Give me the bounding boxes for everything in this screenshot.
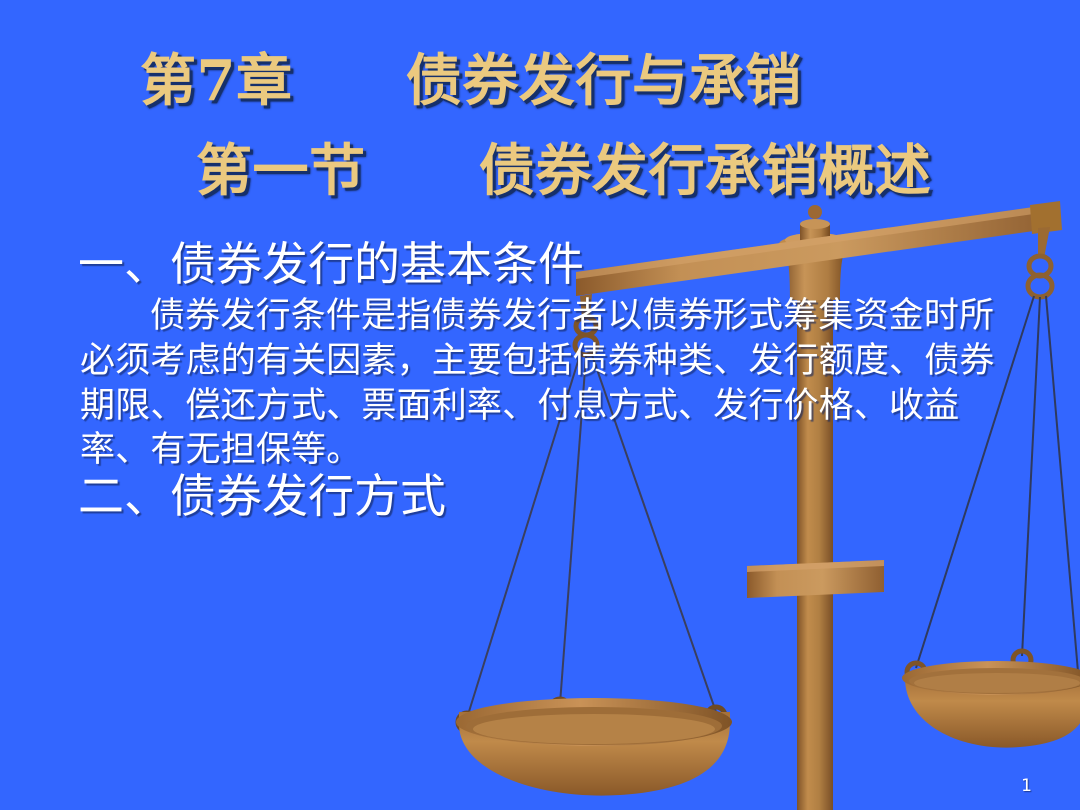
slide-title-line-2: 第一节 债券发行承销概述 (196, 126, 931, 207)
slide-text-layer: 第7章 债券发行与承销 第一节 债券发行承销概述 一、债券发行的基本条件 债券发… (0, 0, 1080, 810)
slide-title-line-1: 第7章 债券发行与承销 (140, 36, 802, 117)
section-heading-2: 二、债券发行方式 (78, 460, 446, 526)
presentation-slide: 第7章 债券发行与承销 第一节 债券发行承销概述 一、债券发行的基本条件 债券发… (0, 0, 1080, 810)
slide-page-number: 1 (1021, 776, 1032, 796)
section-heading-1: 一、债券发行的基本条件 (78, 228, 584, 294)
section-body-1: 债券发行条件是指债券发行者以债券形式筹集资金时所必须考虑的有关因素，主要包括债券… (80, 294, 1000, 473)
